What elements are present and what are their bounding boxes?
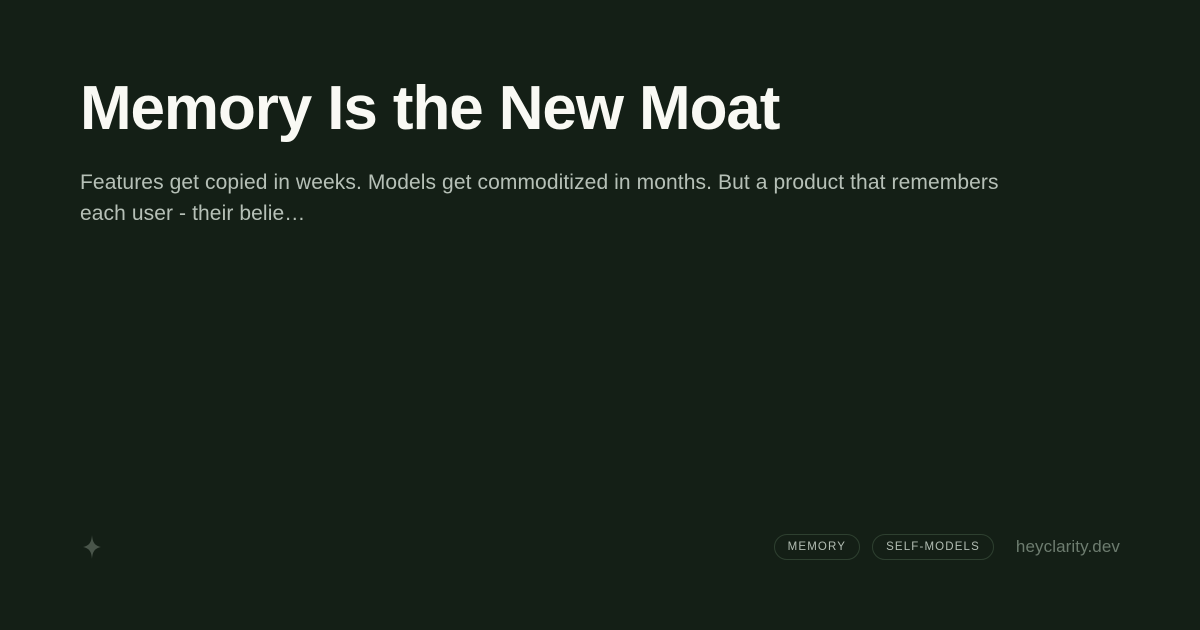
page-subtitle: Features get copied in weeks. Models get… — [80, 167, 1030, 229]
page-title: Memory Is the New Moat — [80, 78, 1120, 140]
tag-self-models[interactable]: SELF-MODELS — [872, 534, 994, 560]
tag-memory[interactable]: MEMORY — [774, 534, 860, 560]
card-footer: MEMORY SELF-MODELS heyclarity.dev — [80, 532, 1120, 562]
site-url[interactable]: heyclarity.dev — [1016, 537, 1120, 557]
footer-meta: MEMORY SELF-MODELS heyclarity.dev — [774, 534, 1120, 560]
sparkle-icon — [80, 532, 104, 562]
social-share-card: Memory Is the New Moat Features get copi… — [0, 0, 1200, 630]
